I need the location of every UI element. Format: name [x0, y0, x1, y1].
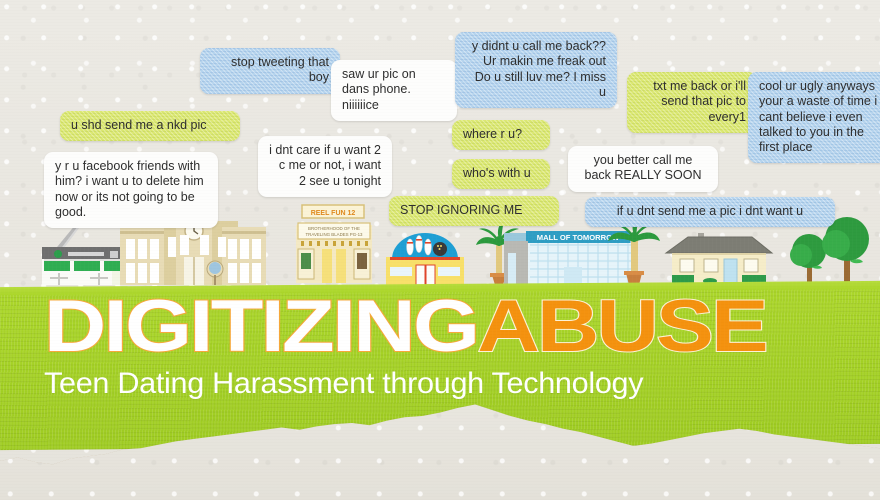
building-house	[660, 231, 778, 287]
title-word-abuse: ABUSE	[477, 286, 766, 367]
message-text: if u dnt send me a pic i dnt want u	[617, 204, 803, 218]
message-text: STOP IGNORING ME	[400, 203, 522, 217]
message-bubble-where-r-u: where r u?	[452, 120, 550, 150]
message-text: saw ur pic on dans phone. niiiiiice	[342, 67, 416, 112]
message-bubble-cool-ur-ugly: cool ur ugly anyways your a waste of tim…	[748, 72, 880, 163]
message-bubble-facebook-friends: y r u facebook friends with him? i want …	[44, 152, 218, 228]
title-line: DIGITIZINGABUSE	[44, 296, 880, 359]
message-text: txt me back or i'll send that pic to eve…	[653, 79, 746, 124]
building-bowling-alley	[382, 227, 468, 287]
title-word-digitizing: DIGITIZING	[44, 286, 477, 367]
tree-large	[812, 217, 880, 287]
torn-paper-body	[0, 385, 880, 500]
message-text: y didnt u call me back?? Ur makin me fre…	[472, 39, 606, 99]
message-bubble-saw-ur-pic: saw ur pic on dans phone. niiiiiice	[331, 60, 457, 121]
message-text: stop tweeting that boy	[231, 55, 329, 84]
message-text: where r u?	[463, 127, 522, 141]
message-bubble-txt-me-back: txt me back or i'll send that pic to eve…	[627, 72, 757, 133]
poster-canvas: REEL FUN 12 BROTHERHOOD OF THE TRAVELING…	[0, 0, 880, 500]
building-cinema: REEL FUN 12 BROTHERHOOD OF THE TRAVELING…	[292, 201, 376, 287]
svg-text:REEL FUN 12: REEL FUN 12	[311, 210, 356, 217]
message-bubble-whos-with-u: who's with u	[452, 159, 550, 189]
svg-text:TRAVELING BLADES PG-13: TRAVELING BLADES PG-13	[305, 232, 363, 237]
message-text: u shd send me a nkd pic	[71, 118, 207, 132]
message-bubble-if-u-dnt-send: if u dnt send me a pic i dnt want u	[585, 197, 835, 227]
message-text: you better call me back REALLY SOON	[585, 153, 702, 182]
message-bubble-stop-ignoring-me: STOP IGNORING ME	[389, 196, 559, 226]
torn-paper-edge	[0, 385, 880, 500]
message-bubble-nkd-pic: u shd send me a nkd pic	[60, 111, 240, 141]
svg-text:BROTHERHOOD OF THE: BROTHERHOOD OF THE	[308, 226, 360, 231]
message-text: i dnt care if u want 2 c me or not, i wa…	[269, 143, 381, 188]
message-text: who's with u	[463, 166, 531, 180]
message-bubble-stop-tweeting: stop tweeting that boy	[200, 48, 340, 94]
message-bubble-dnt-care: i dnt care if u want 2 c me or not, i wa…	[258, 136, 392, 197]
message-text: cool ur ugly anyways your a waste of tim…	[759, 79, 877, 154]
message-bubble-didnt-call-back: y didnt u call me back?? Ur makin me fre…	[455, 32, 617, 108]
message-text: y r u facebook friends with him? i want …	[55, 159, 204, 219]
message-bubble-call-me-back-soon: you better call me back REALLY SOON	[568, 146, 718, 192]
